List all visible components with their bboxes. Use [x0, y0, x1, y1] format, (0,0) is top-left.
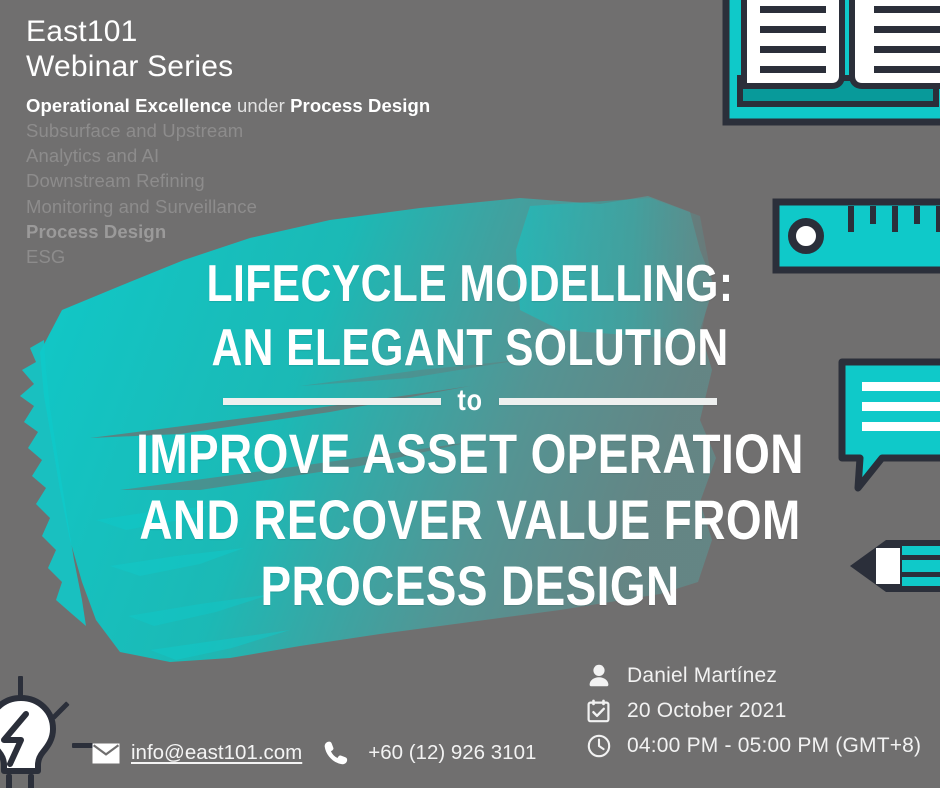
title-line-3: Improve Asset Operation — [85, 426, 856, 482]
email-link[interactable]: info@east101.com — [131, 741, 302, 765]
title-line-5: Process Design — [85, 558, 856, 614]
open-book-icon — [722, 0, 940, 135]
title-connector: to — [457, 384, 482, 418]
topic-item-analytics[interactable]: Analytics and AI — [26, 143, 430, 168]
event-time: 04:00 PM - 05:00 PM (GMT+8) — [627, 734, 921, 758]
phone-number: +60 (12) 926 3101 — [368, 741, 536, 765]
brand-name: East101 — [26, 14, 233, 49]
lightbulb-ray-right — [72, 743, 93, 748]
brand-header: East101 Webinar Series — [26, 14, 233, 84]
webinar-title: Lifecycle Modelling: An Elegant Solution… — [0, 258, 940, 614]
envelope-icon — [92, 743, 120, 764]
speaker-row: Daniel Martínez — [586, 662, 921, 689]
event-date: 20 October 2021 — [627, 699, 786, 723]
date-row: 20 October 2021 — [586, 697, 921, 724]
topic-headline-strong2: Process Design — [290, 95, 430, 116]
topic-item-downstream[interactable]: Downstream Refining — [26, 168, 430, 193]
divider-right — [499, 398, 717, 405]
topic-headline: Operational Excellence under Process Des… — [26, 93, 430, 118]
title-line-4: and Recover Value from — [85, 492, 856, 548]
contact-bar: info@east101.com +60 (12) 926 3101 — [92, 740, 536, 766]
topic-headline-connector: under — [232, 95, 290, 116]
phone-icon — [323, 740, 349, 766]
webinar-poster: East101 Webinar Series Operational Excel… — [0, 0, 940, 788]
calendar-check-icon — [586, 697, 611, 724]
speaker-name: Daniel Martínez — [627, 664, 777, 688]
person-icon — [586, 662, 611, 689]
time-row: 04:00 PM - 05:00 PM (GMT+8) — [586, 732, 921, 759]
event-details: Daniel Martínez 20 October 2021 04:0 — [586, 662, 921, 759]
brand-subtitle: Webinar Series — [26, 49, 233, 84]
title-connector-row: to — [0, 384, 940, 418]
title-line-2: An Elegant Solution — [85, 322, 856, 374]
divider-left — [223, 398, 441, 405]
title-line-1: Lifecycle Modelling: — [85, 258, 856, 310]
topic-item-subsurface[interactable]: Subsurface and Upstream — [26, 118, 430, 143]
topic-item-monitoring[interactable]: Monitoring and Surveillance — [26, 194, 430, 219]
topic-headline-strong: Operational Excellence — [26, 95, 232, 116]
clock-icon — [586, 732, 611, 759]
topic-item-process-design[interactable]: Process Design — [26, 219, 430, 244]
topic-list: Operational Excellence under Process Des… — [26, 93, 430, 269]
lightbulb-ray-top — [18, 676, 23, 697]
